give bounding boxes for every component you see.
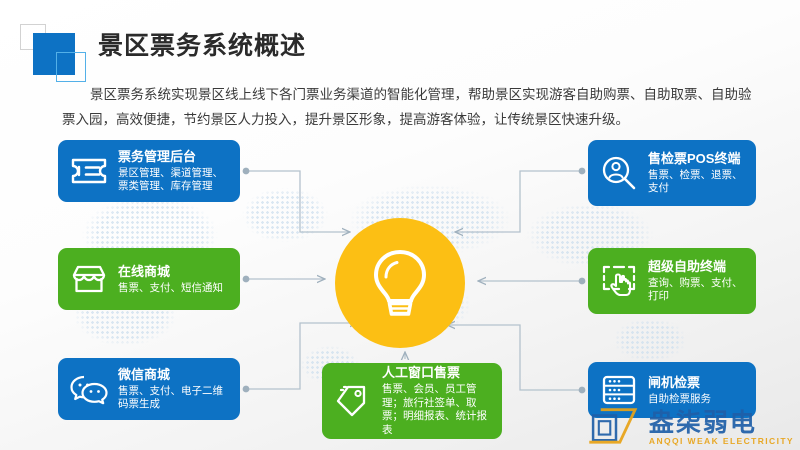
card-manual-window[interactable]: 人工窗口售票 售票、会员、员工管理；旅行社签单、取票；明细报表、统计报表 bbox=[322, 363, 502, 439]
card-subtitle: 售票、支付、电子二维码票生成 bbox=[118, 385, 230, 411]
card-text: 票务管理后台 景区管理、渠道管理、票类管理、库存管理 bbox=[118, 149, 230, 193]
card-title: 超级自助终端 bbox=[648, 259, 746, 275]
card-title: 人工窗口售票 bbox=[382, 365, 492, 381]
card-subtitle: 售票、检票、退票、支付 bbox=[648, 169, 746, 195]
card-subtitle: 售票、会员、员工管理；旅行社签单、取票；明细报表、统计报表 bbox=[382, 383, 492, 437]
card-subtitle: 售票、支付、短信通知 bbox=[118, 282, 230, 295]
watermark-chinese: 盎柒弱电 bbox=[649, 410, 757, 436]
card-text: 微信商城 售票、支付、电子二维码票生成 bbox=[118, 367, 230, 411]
card-self-service[interactable]: 超级自助终端 查询、购票、支付、打印 bbox=[588, 248, 756, 314]
wechat-icon bbox=[68, 368, 110, 410]
card-text: 人工窗口售票 售票、会员、员工管理；旅行社签单、取票；明细报表、统计报表 bbox=[382, 365, 492, 437]
card-text: 闸机检票 自助检票服务 bbox=[648, 375, 746, 406]
store-icon bbox=[68, 258, 110, 300]
watermark: 盎柒弱电 ANQQI WEAK ELECTRICITY bbox=[587, 404, 794, 446]
lightbulb-icon bbox=[367, 247, 433, 319]
card-title: 在线商城 bbox=[118, 264, 230, 280]
page-description: 景区票务系统实现景区线上线下各门票业务渠道的智能化管理，帮助景区实现游客自助购票… bbox=[62, 82, 762, 132]
card-subtitle: 景区管理、渠道管理、票类管理、库存管理 bbox=[118, 167, 230, 193]
card-wechat-mall[interactable]: 微信商城 售票、支付、电子二维码票生成 bbox=[58, 358, 240, 420]
tag-icon bbox=[332, 380, 374, 422]
card-title: 售检票POS终端 bbox=[648, 151, 746, 167]
blue-outline-square-icon bbox=[56, 52, 86, 82]
touch-hand-icon bbox=[598, 260, 640, 302]
card-online-mall[interactable]: 在线商城 售票、支付、短信通知 bbox=[58, 248, 240, 310]
card-text: 售检票POS终端 售票、检票、退票、支付 bbox=[648, 151, 746, 195]
card-title: 闸机检票 bbox=[648, 375, 746, 391]
card-text: 在线商城 售票、支付、短信通知 bbox=[118, 264, 230, 295]
card-title: 微信商城 bbox=[118, 367, 230, 383]
watermark-text: 盎柒弱电 ANQQI WEAK ELECTRICITY bbox=[649, 410, 794, 446]
user-search-icon bbox=[598, 152, 640, 194]
anqi-logo-icon bbox=[587, 404, 645, 446]
card-subtitle: 查询、购票、支付、打印 bbox=[648, 277, 746, 303]
slide-canvas: 景区票务系统概述 景区票务系统实现景区线上线下各门票业务渠道的智能化管理，帮助景… bbox=[0, 0, 800, 450]
card-pos-terminal[interactable]: 售检票POS终端 售票、检票、退票、支付 bbox=[588, 140, 756, 206]
card-text: 超级自助终端 查询、购票、支付、打印 bbox=[648, 259, 746, 303]
card-title: 票务管理后台 bbox=[118, 149, 230, 165]
card-ticket-admin[interactable]: 票务管理后台 景区管理、渠道管理、票类管理、库存管理 bbox=[58, 140, 240, 202]
center-hub bbox=[335, 218, 465, 348]
ticket-icon bbox=[68, 150, 110, 192]
header-decoration bbox=[20, 24, 100, 86]
page-title: 景区票务系统概述 bbox=[98, 26, 306, 62]
watermark-english: ANQQI WEAK ELECTRICITY bbox=[649, 436, 794, 446]
